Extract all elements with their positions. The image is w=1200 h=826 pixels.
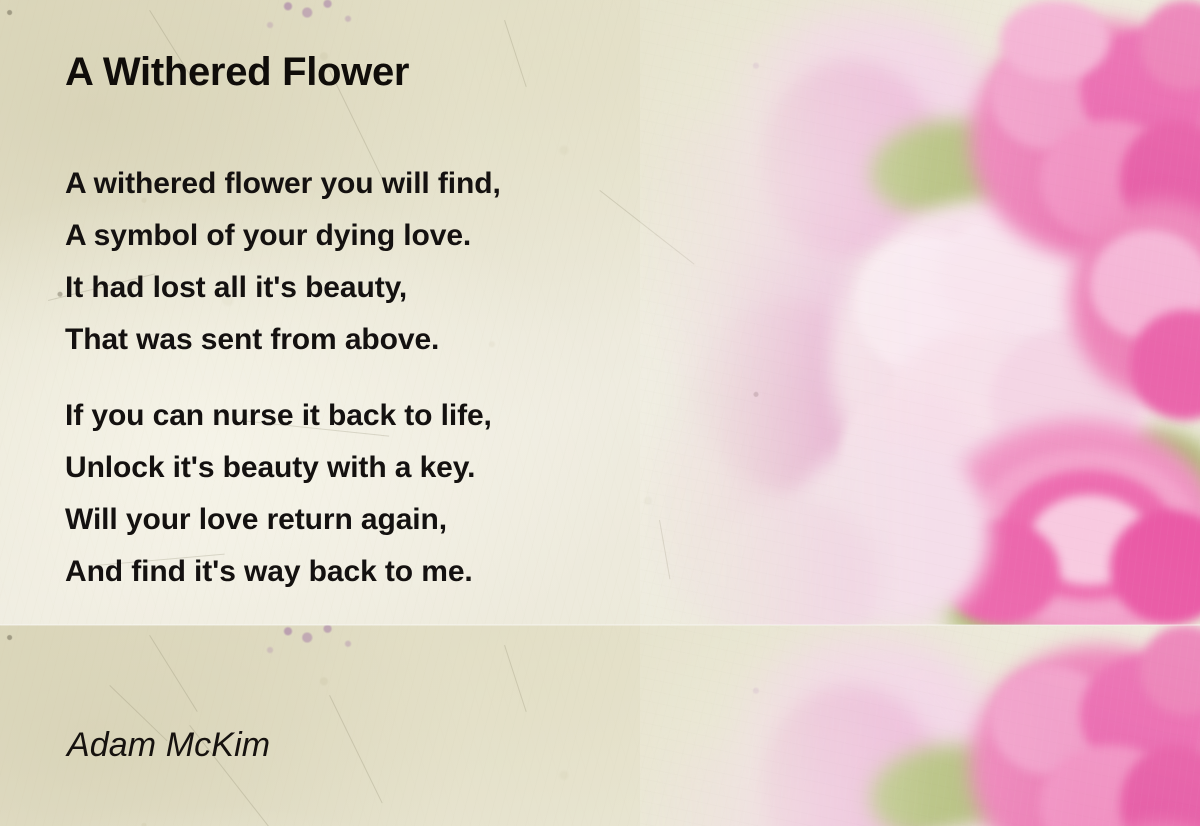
poem-image-card: A Withered Flower A withered flower you … bbox=[0, 0, 1200, 826]
poem-stanza: A withered flower you will find, A symbo… bbox=[65, 158, 705, 366]
poem-line: That was sent from above. bbox=[65, 314, 705, 366]
poem-stanza: If you can nurse it back to life, Unlock… bbox=[65, 390, 705, 598]
poem-line: A withered flower you will find, bbox=[65, 158, 705, 210]
poem-title: A Withered Flower bbox=[65, 50, 409, 95]
poem-author: Adam McKim bbox=[67, 726, 270, 765]
poem-line: Unlock it's beauty with a key. bbox=[65, 442, 705, 494]
poem-line: If you can nurse it back to life, bbox=[65, 390, 705, 442]
poem-line: Will your love return again, bbox=[65, 494, 705, 546]
poem-content: A Withered Flower A withered flower you … bbox=[0, 0, 1200, 826]
poem-line: And find it's way back to me. bbox=[65, 546, 705, 598]
poem-line: It had lost all it's beauty, bbox=[65, 262, 705, 314]
poem-line: A symbol of your dying love. bbox=[65, 210, 705, 262]
poem-text: A withered flower you will find, A symbo… bbox=[65, 158, 705, 598]
